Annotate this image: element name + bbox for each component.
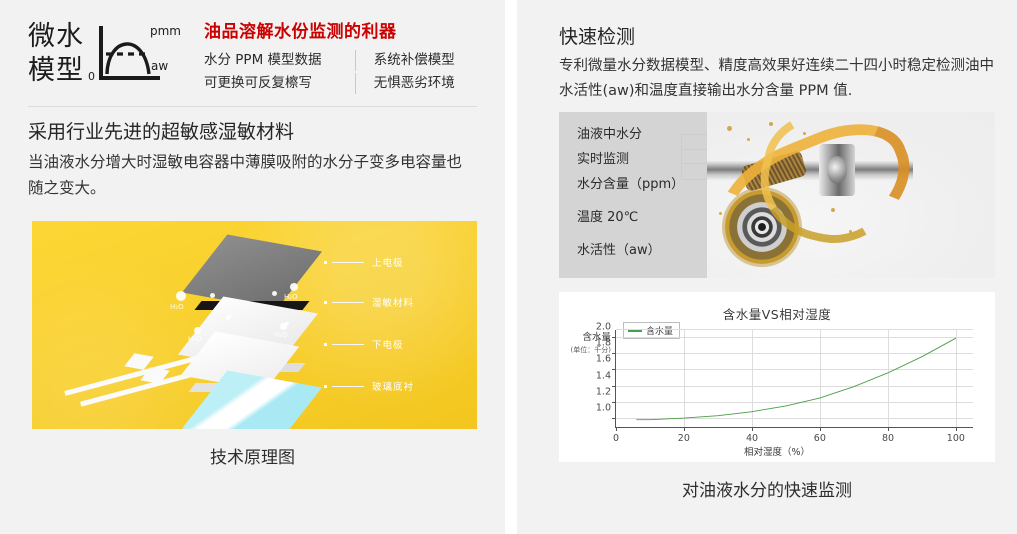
x-tick-label: 100 [947, 433, 965, 444]
feature-item: 水分 PPM 模型数据 [204, 50, 355, 71]
y-tick-label: 2.0 [596, 322, 611, 333]
water-molecule [210, 293, 215, 298]
brand-text-block: 油品溶解水份监测的利器 水分 PPM 模型数据 系统补偿模型 可更换可反复檫写 … [204, 14, 483, 94]
callout-label: 下电极 [372, 337, 404, 351]
right-caption: 对油液水分的快速监测 [517, 462, 1017, 504]
logo-label-pmm: pmm [150, 24, 180, 38]
y-tick-label: 1.0 [596, 402, 611, 413]
left-caption: 技术原理图 [0, 429, 505, 471]
y-tick-label: 1.6 [596, 354, 611, 365]
chart-plot-area: 1.0 1.2 1.4 1.6 1.8 2.0 0 20 40 60 [615, 330, 973, 428]
brand-row: 微水 模型 0 pmm aw 油品溶解水份监测的利器 [0, 0, 505, 94]
water-molecule-label: H₂O [188, 335, 202, 343]
technical-diagram-image: H₂O H₂O H₂O H₂O 上电极 湿敏材料 下 [32, 221, 477, 429]
left-section-body: 当油液水分增大时湿敏电容器中薄膜吸附的水分子变多电容量也随之变大。 [0, 147, 505, 201]
water-molecule [272, 291, 277, 296]
feature-item: 无惧恶劣环境 [355, 73, 470, 94]
callout-label: 上电极 [372, 255, 404, 269]
left-panel: 微水 模型 0 pmm aw 油品溶解水份监测的利器 [0, 0, 505, 534]
callout-label: 玻璃底衬 [372, 379, 414, 393]
x-tick-label: 80 [882, 433, 894, 444]
water-molecule [280, 323, 287, 330]
y-tick-label: 1.2 [596, 386, 611, 397]
water-molecule-label: H₂O [170, 303, 184, 311]
headline: 油品溶解水份监测的利器 [204, 20, 483, 44]
humidity-chart: 含水量VS相对湿度 含水量 (单位：千分) 含水量 [559, 292, 995, 462]
parameter-item: 温度 20℃ [577, 205, 707, 230]
right-section-body: 专利微量水分数据模型、精度高效果好连续二十四小时稳定检测油中水活性(aw)和温度… [517, 52, 1017, 104]
x-tick-label: 20 [678, 433, 690, 444]
parameter-item: 水活性（aw） [577, 238, 707, 263]
y-tick-label: 1.4 [596, 370, 611, 381]
monitoring-parameter-list: 油液中水分 实时监测 水分含量（ppm） 温度 20℃ 水活性（aw） [559, 112, 707, 278]
monitoring-illustration: 油液中水分 实时监测 水分含量（ppm） 温度 20℃ 水活性（aw） [559, 112, 995, 278]
brand-line-1: 微水 [28, 20, 84, 54]
right-section-title: 快速检测 [517, 0, 1017, 52]
chart-series-line [616, 330, 973, 427]
water-molecule-label: H₂O [274, 331, 288, 339]
brand-logo-block: 微水 模型 0 pmm aw [28, 14, 180, 93]
x-tick-label: 60 [814, 433, 826, 444]
brand-wordmark: 微水 模型 [28, 20, 84, 88]
right-panel: 快速检测 专利微量水分数据模型、精度高效果好连续二十四小时稳定检测油中水活性(a… [517, 0, 1017, 534]
left-section-title: 采用行业先进的超敏感湿敏材料 [0, 107, 505, 147]
callout-label: 湿敏材料 [372, 295, 414, 309]
brand-line-2: 模型 [28, 54, 84, 88]
panel-gap [505, 0, 517, 534]
water-molecule [176, 291, 186, 301]
logo-label-aw: aw [151, 59, 168, 73]
feature-grid: 水分 PPM 模型数据 系统补偿模型 可更换可反复檫写 无惧恶劣环境 [204, 50, 470, 94]
x-tick-label: 0 [613, 433, 619, 444]
feature-item: 可更换可反复檫写 [204, 73, 355, 94]
water-molecule [290, 283, 298, 291]
x-tick-label: 40 [746, 433, 758, 444]
chart-title: 含水量VS相对湿度 [559, 292, 995, 323]
curve-axis-icon: 0 pmm aw [88, 18, 180, 93]
water-molecule-label: H₂O [284, 293, 298, 301]
water-molecule [194, 327, 201, 334]
layer-glass-substrate [198, 379, 306, 429]
gear-oil-image [707, 112, 995, 278]
svg-text:0: 0 [88, 70, 95, 83]
y-tick-label: 1.8 [596, 338, 611, 349]
page-root: 微水 模型 0 pmm aw 油品溶解水份监测的利器 [0, 0, 1017, 534]
chart-x-axis-label: 相对湿度（%） [559, 444, 995, 458]
feature-item: 系统补偿模型 [355, 50, 470, 71]
